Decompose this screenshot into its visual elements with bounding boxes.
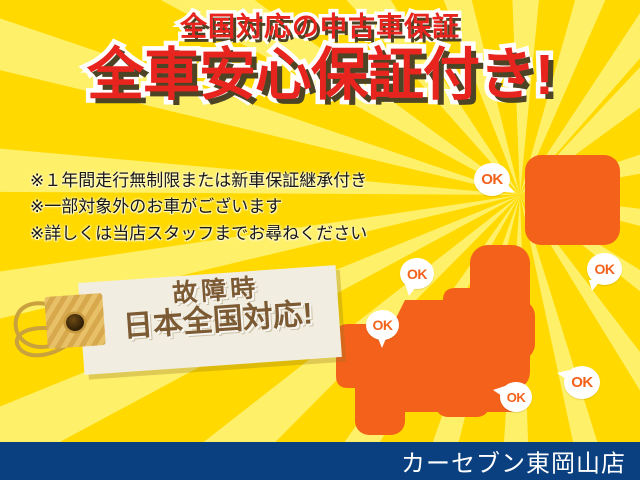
note-item: ※１年間走行無制限または新車保証継承付き <box>30 168 367 194</box>
ok-badge-label: OK <box>507 390 526 405</box>
promo-poster: OK OK OK OK OK OK 全国対応の中古車保証 全車安心保証付き! ※… <box>0 0 640 480</box>
ok-badge-2: OK <box>400 258 434 289</box>
hang-tag: 故障時 日本全国対応! <box>6 262 346 387</box>
bubble-tail-icon <box>589 280 601 291</box>
shop-name: カーセブン東岡山店 <box>401 444 626 479</box>
bubble-tail-icon <box>493 386 505 398</box>
note-item: ※詳しくは当店スタッフまでお尋ねください <box>30 221 367 247</box>
ok-badge-label: OK <box>373 317 393 333</box>
ok-badge-label: OK <box>571 374 593 391</box>
tag-eyelet-icon <box>66 314 84 331</box>
note-item: ※一部対象外のお車がございます <box>30 194 367 220</box>
ok-badge-1: OK <box>474 163 510 196</box>
ok-badge-3: OK <box>587 253 622 285</box>
ok-badge-label: OK <box>595 261 615 277</box>
headline-main: 全車安心保証付き! <box>87 47 553 104</box>
headline-block: 全国対応の中古車保証 全車安心保証付き! <box>0 0 640 104</box>
ok-badge-label: OK <box>407 266 427 282</box>
ok-badge-label: OK <box>481 171 503 188</box>
ok-badge-4: OK <box>366 310 399 340</box>
bubble-tail-icon <box>405 284 418 296</box>
bubble-tail-icon <box>557 370 569 381</box>
bubble-tail-icon <box>377 336 387 348</box>
headline-top: 全国対応の中古車保証 <box>180 14 460 41</box>
ok-badge-5: OK <box>500 382 532 412</box>
ok-badge-6: OK <box>564 366 600 399</box>
footer-bar: カーセブン東岡山店 <box>0 442 640 480</box>
notes-list: ※１年間走行無制限または新車保証継承付き ※一部対象外のお車がございます ※詳し… <box>30 168 367 247</box>
